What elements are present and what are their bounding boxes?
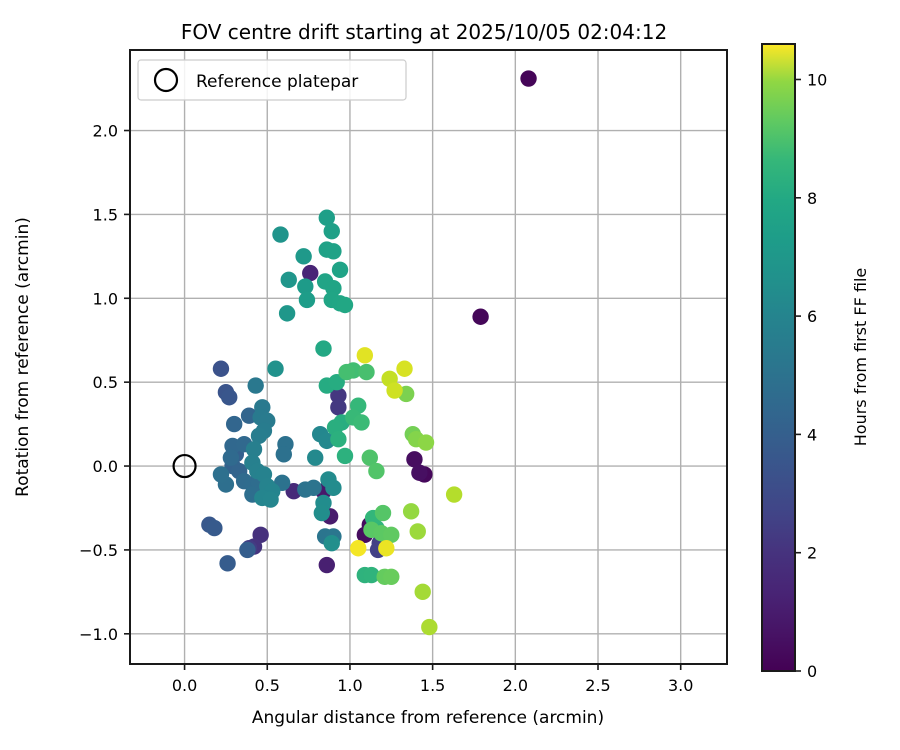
x-tick-label: 0.5	[255, 676, 280, 695]
scatter-point[interactable]	[383, 569, 399, 585]
scatter-point[interactable]	[403, 503, 419, 519]
scatter-point[interactable]	[358, 364, 374, 380]
scatter-point[interactable]	[299, 292, 315, 308]
colorbar-tick-label: 6	[807, 307, 817, 326]
scatter-point[interactable]	[226, 416, 242, 432]
x-tick-label: 0.0	[172, 676, 197, 695]
scatter-point[interactable]	[337, 448, 353, 464]
x-tick-label: 2.5	[585, 676, 610, 695]
scatter-point[interactable]	[267, 361, 283, 377]
scatter-point[interactable]	[324, 535, 340, 551]
scatter-plot-canvas: FOV centre drift starting at 2025/10/05 …	[0, 0, 900, 750]
colorbar-tick-label: 10	[807, 70, 827, 89]
scatter-point[interactable]	[281, 272, 297, 288]
colorbar-label: Hours from first FF file	[851, 268, 870, 447]
scatter-point[interactable]	[520, 70, 536, 86]
legend[interactable]: Reference platepar	[138, 60, 406, 100]
y-tick-label: 2.0	[93, 122, 118, 141]
scatter-point[interactable]	[386, 382, 402, 398]
chart-title: FOV centre drift starting at 2025/10/05 …	[181, 20, 667, 44]
scatter-point[interactable]	[472, 309, 488, 325]
scatter-point[interactable]	[330, 431, 346, 447]
scatter-point[interactable]	[239, 542, 255, 558]
scatter-point[interactable]	[324, 223, 340, 239]
scatter-point[interactable]	[330, 399, 346, 415]
plot-area-background	[130, 50, 727, 664]
scatter-point[interactable]	[357, 347, 373, 363]
legend-entry-label: Reference platepar	[196, 72, 358, 92]
scatter-point[interactable]	[279, 305, 295, 321]
scatter-point[interactable]	[213, 466, 229, 482]
scatter-point[interactable]	[319, 557, 335, 573]
scatter-point[interactable]	[325, 243, 341, 259]
scatter-point[interactable]	[307, 449, 323, 465]
x-axis-label: Angular distance from reference (arcmin)	[252, 708, 604, 728]
scatter-point[interactable]	[368, 463, 384, 479]
x-tick-label: 1.5	[420, 676, 445, 695]
colorbar-gradient	[762, 44, 795, 671]
scatter-point[interactable]	[223, 449, 239, 465]
scatter-point[interactable]	[305, 480, 321, 496]
y-tick-label: 0.0	[93, 457, 118, 476]
colorbar-tick-label: 2	[807, 544, 817, 563]
colorbar-tick-label: 0	[807, 662, 817, 681]
scatter-point[interactable]	[219, 555, 235, 571]
scatter-point[interactable]	[446, 486, 462, 502]
colorbar-tick-label: 8	[807, 189, 817, 208]
y-tick-label: −0.5	[79, 541, 118, 560]
scatter-point[interactable]	[272, 226, 288, 242]
scatter-point[interactable]	[247, 377, 263, 393]
scatter-point[interactable]	[295, 248, 311, 264]
scatter-point[interactable]	[378, 540, 394, 556]
scatter-point[interactable]	[418, 434, 434, 450]
x-tick-label: 2.0	[503, 676, 528, 695]
x-tick-label: 1.0	[337, 676, 362, 695]
scatter-point[interactable]	[411, 465, 427, 481]
scatter-point[interactable]	[314, 505, 330, 521]
y-tick-label: 1.5	[93, 205, 118, 224]
colorbar-tick-label: 4	[807, 425, 817, 444]
scatter-point[interactable]	[396, 361, 412, 377]
scatter-point[interactable]	[221, 389, 237, 405]
figure-container: FOV centre drift starting at 2025/10/05 …	[0, 0, 900, 750]
x-tick-label: 3.0	[668, 676, 693, 695]
scatter-point[interactable]	[213, 361, 229, 377]
scatter-point[interactable]	[315, 340, 331, 356]
y-tick-label: −1.0	[79, 625, 118, 644]
scatter-point[interactable]	[338, 364, 354, 380]
y-tick-label: 1.0	[93, 289, 118, 308]
scatter-point[interactable]	[332, 262, 348, 278]
scatter-point[interactable]	[375, 505, 391, 521]
scatter-point[interactable]	[350, 540, 366, 556]
scatter-point[interactable]	[262, 491, 278, 507]
scatter-point[interactable]	[353, 414, 369, 430]
scatter-point[interactable]	[276, 446, 292, 462]
scatter-point[interactable]	[337, 297, 353, 313]
y-tick-label: 0.5	[93, 373, 118, 392]
scatter-point[interactable]	[410, 523, 426, 539]
scatter-point[interactable]	[415, 584, 431, 600]
scatter-point[interactable]	[206, 520, 222, 536]
y-axis-label: Rotation from reference (arcmin)	[13, 217, 33, 497]
scatter-point[interactable]	[325, 480, 341, 496]
scatter-point[interactable]	[421, 619, 437, 635]
